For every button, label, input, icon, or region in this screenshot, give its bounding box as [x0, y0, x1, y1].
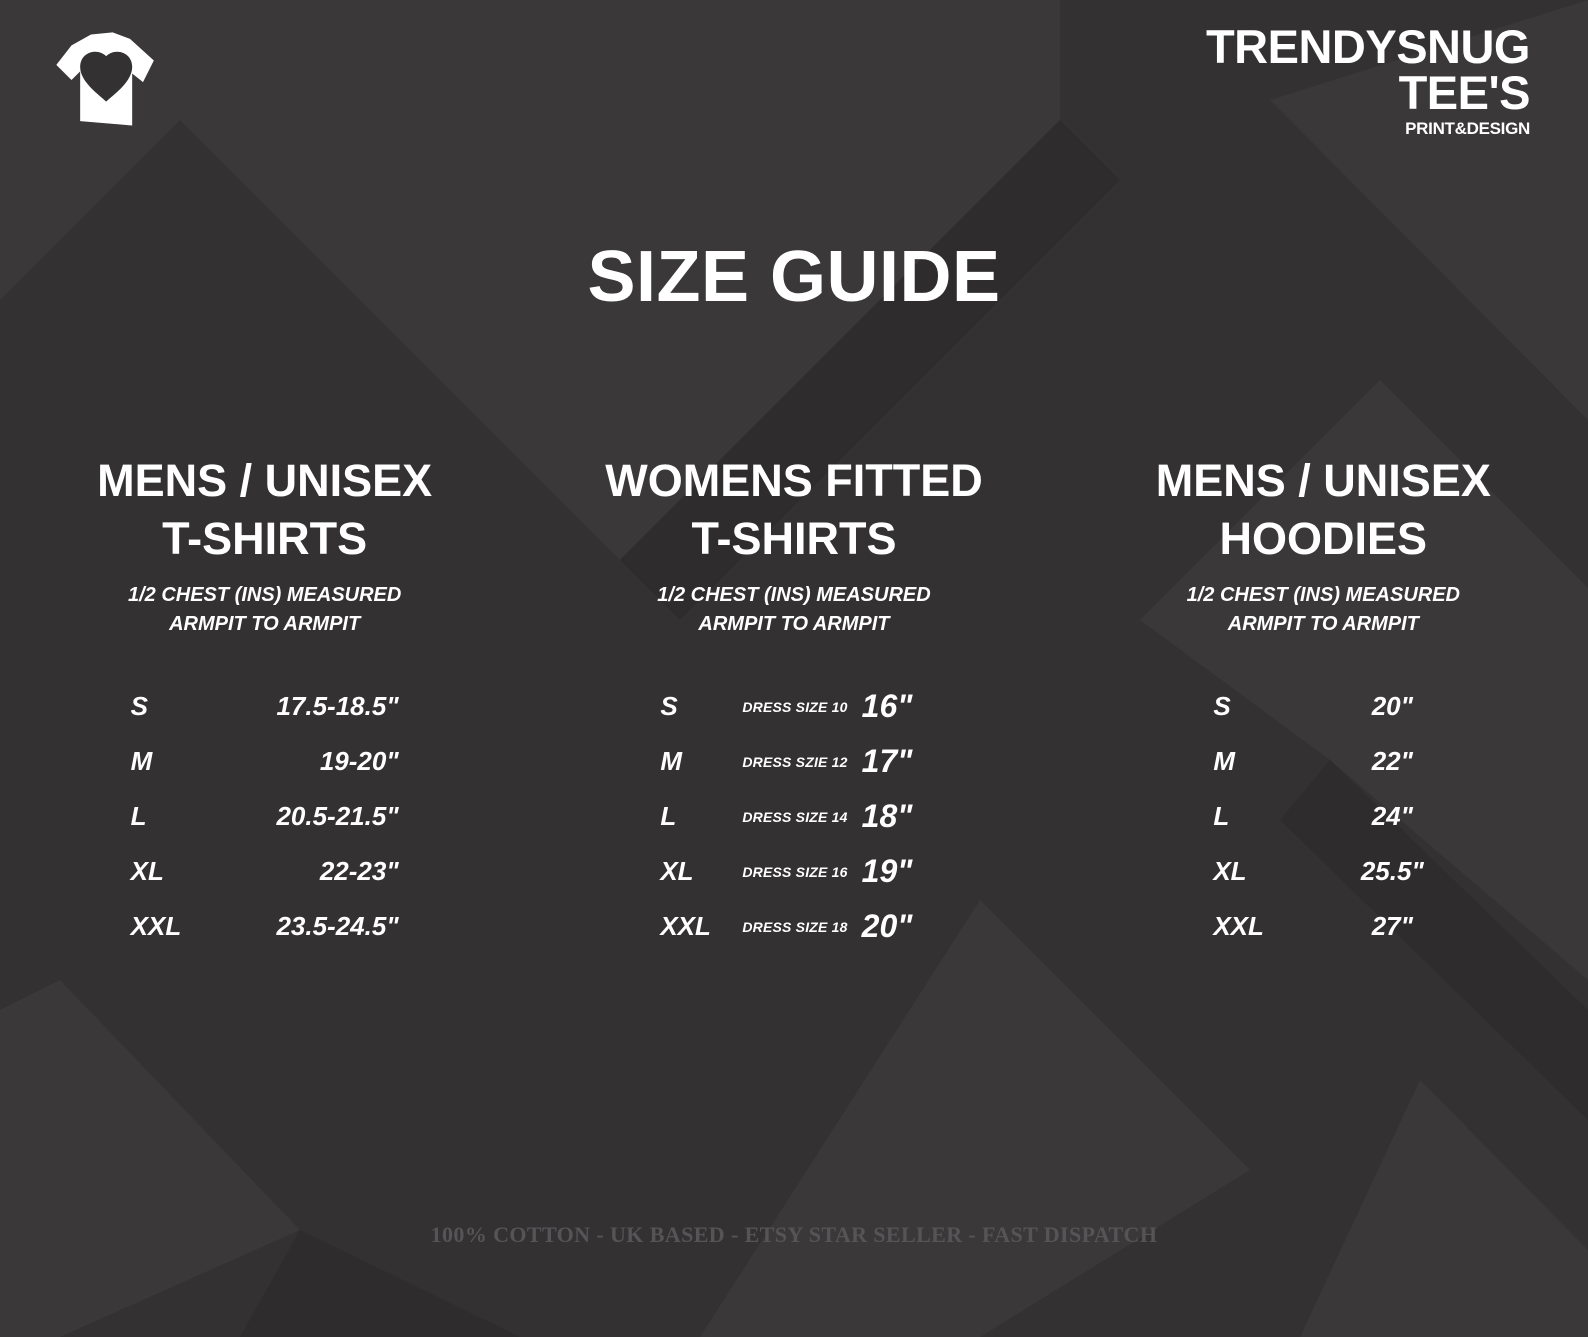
table-row: XL 25.5" [1213, 844, 1433, 899]
table-row: S DRESS SIZE 10 16" [660, 679, 927, 734]
measurement-value: 20" [862, 899, 928, 954]
size-label: XL [660, 844, 728, 899]
size-columns: MENS / UNISEX T-SHIRTS 1/2 CHEST (INS) M… [0, 452, 1588, 954]
measurement-value: 22" [1351, 734, 1433, 789]
measurement-value: 24" [1351, 789, 1433, 844]
size-label: XL [1213, 844, 1351, 899]
measurement-value: 18" [862, 789, 928, 844]
size-label: M [1213, 734, 1351, 789]
measurement-value: 23.5-24.5" [249, 899, 399, 954]
size-guide-poster: TRENDYSNUG TEE'S PRINT&DESIGN SIZE GUIDE… [0, 0, 1588, 1337]
tshirt-heart-icon [48, 28, 160, 132]
brand-logo: TRENDYSNUG TEE'S PRINT&DESIGN [1206, 24, 1530, 139]
size-label: XXL [1213, 899, 1351, 954]
size-column-womens-tshirts: WOMENS FITTED T-SHIRTS 1/2 CHEST (INS) M… [529, 452, 1058, 954]
table-row: L DRESS SIZE 14 18" [660, 789, 927, 844]
brand-name-line1: TRENDYSNUG [1206, 24, 1530, 69]
table-row: S 17.5-18.5" [131, 679, 399, 734]
table-row: L 24" [1213, 789, 1433, 844]
column-subtitle: 1/2 CHEST (INS) MEASURED ARMPIT TO ARMPI… [128, 581, 401, 639]
table-row: XL DRESS SIZE 16 19" [660, 844, 927, 899]
table-row: M 19-20" [131, 734, 399, 789]
size-table-womens-tshirts: S DRESS SIZE 10 16" M DRESS SZIE 12 17" … [660, 679, 927, 954]
measurement-value: 17.5-18.5" [249, 679, 399, 734]
column-heading: MENS / UNISEX T-SHIRTS [97, 452, 432, 567]
measurement-value: 19-20" [249, 734, 399, 789]
table-row: L 20.5-21.5" [131, 789, 399, 844]
measurement-value: 27" [1351, 899, 1433, 954]
size-table-mens-tshirts: S 17.5-18.5" M 19-20" L 20.5-21.5" XL 22… [131, 679, 399, 954]
size-label: S [1213, 679, 1351, 734]
size-label: XXL [660, 899, 728, 954]
dress-size-label: DRESS SIZE 14 [728, 789, 861, 844]
size-label: L [1213, 789, 1351, 844]
measurement-value: 20" [1351, 679, 1433, 734]
measurement-value: 16" [862, 679, 928, 734]
table-row: XXL 23.5-24.5" [131, 899, 399, 954]
dress-size-label: DRESS SIZE 16 [728, 844, 861, 899]
measurement-value: 19" [862, 844, 928, 899]
size-label: M [660, 734, 728, 789]
table-row: XXL DRESS SIZE 18 20" [660, 899, 927, 954]
column-heading: WOMENS FITTED T-SHIRTS [605, 452, 982, 567]
table-row: S 20" [1213, 679, 1433, 734]
measurement-value: 22-23" [249, 844, 399, 899]
page-title: SIZE GUIDE [0, 236, 1588, 318]
dress-size-label: DRESS SIZE 18 [728, 899, 861, 954]
size-label: XL [131, 844, 249, 899]
size-label: XXL [131, 899, 249, 954]
brand-name-line2: TEE'S [1206, 69, 1530, 116]
measurement-value: 17" [862, 734, 928, 789]
footer-tagline: 100% COTTON - UK BASED - ETSY STAR SELLE… [0, 1222, 1588, 1248]
size-column-mens-tshirts: MENS / UNISEX T-SHIRTS 1/2 CHEST (INS) M… [0, 452, 529, 954]
dress-size-label: DRESS SZIE 12 [728, 734, 861, 789]
table-row: XL 22-23" [131, 844, 399, 899]
size-label: S [660, 679, 728, 734]
table-row: XXL 27" [1213, 899, 1433, 954]
dress-size-label: DRESS SIZE 10 [728, 679, 861, 734]
column-heading: MENS / UNISEX HOODIES [1156, 452, 1491, 567]
size-label: S [131, 679, 249, 734]
size-label: M [131, 734, 249, 789]
measurement-value: 20.5-21.5" [249, 789, 399, 844]
brand-tagline: PRINT&DESIGN [1206, 119, 1530, 139]
table-row: M DRESS SZIE 12 17" [660, 734, 927, 789]
table-row: M 22" [1213, 734, 1433, 789]
column-subtitle: 1/2 CHEST (INS) MEASURED ARMPIT TO ARMPI… [657, 581, 930, 639]
size-label: L [660, 789, 728, 844]
size-label: L [131, 789, 249, 844]
size-table-mens-hoodies: S 20" M 22" L 24" XL 25.5" [1213, 679, 1433, 954]
column-subtitle: 1/2 CHEST (INS) MEASURED ARMPIT TO ARMPI… [1187, 581, 1460, 639]
measurement-value: 25.5" [1351, 844, 1433, 899]
size-column-mens-hoodies: MENS / UNISEX HOODIES 1/2 CHEST (INS) ME… [1059, 452, 1588, 954]
